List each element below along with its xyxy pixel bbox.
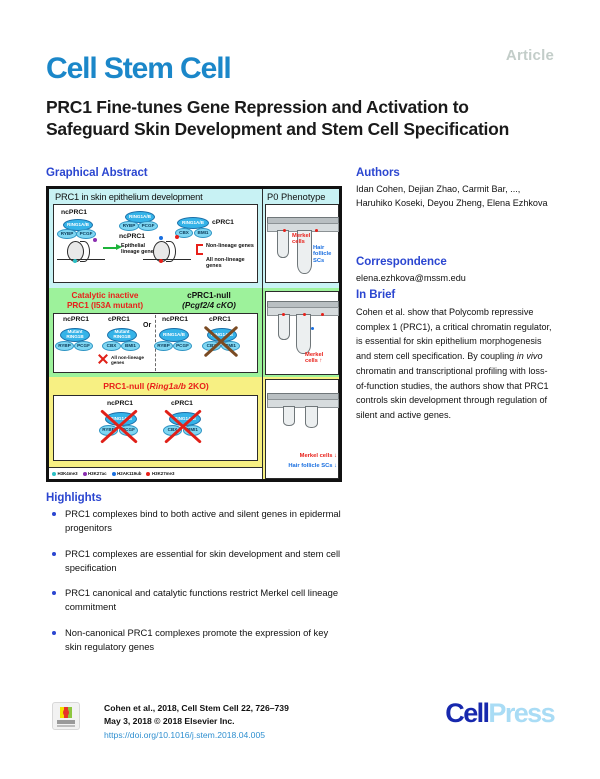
logo-press-text: Press xyxy=(488,698,554,728)
correspondence-email[interactable]: elena.ezhkova@mssm.edu xyxy=(356,272,552,286)
top-cprc1-label: cPRC1 xyxy=(212,219,234,226)
mid-head-left: Catalytic inactive PRC1 (I53A mutant) xyxy=(55,291,155,312)
h2ak119ub-mark xyxy=(159,236,163,240)
mid-ncprc1-label: ncPRC1 xyxy=(63,316,89,323)
hair-follicle-shape-4 xyxy=(296,314,311,354)
mutant-ring1b-blob: Mutant RING1B xyxy=(60,328,90,342)
legend-item: H3K4me3 xyxy=(52,471,78,476)
ncprc1-knockout-x-icon xyxy=(95,407,143,443)
merkel-cell-dot-2 xyxy=(315,229,318,232)
list-item: PRC1 complexes bind to both active and s… xyxy=(46,507,346,536)
figure-title-left: PRC1 in skin epithelium development xyxy=(55,192,203,202)
legend-item: H3K27ac xyxy=(83,471,107,476)
legend-dot-h3k4me3 xyxy=(52,472,56,476)
mutant-ring1b-blob-2: Mutant RING1B xyxy=(107,328,137,342)
figure-legend: H3K4me3 H3K27ac H2AK119ub H3K27me3 xyxy=(49,467,262,479)
correspondence-heading: Correspondence xyxy=(356,256,447,268)
mid-phenotype-label: Merkel cells ↑ xyxy=(305,352,337,365)
bottom-ncprc1-label: ncPRC1 xyxy=(107,400,133,407)
hair-follicle-shape-3 xyxy=(278,314,290,340)
citation-line-2: May 3, 2018 © 2018 Elsevier Inc. xyxy=(104,715,289,728)
legend-item: H2AK119ub xyxy=(112,471,142,476)
legend-label: H2AK119ub xyxy=(117,471,141,476)
top-ncprc1-label: ncPRC1 xyxy=(61,209,87,216)
legend-label: H3K27me3 xyxy=(152,471,174,476)
bottom-cprc1-label: cPRC1 xyxy=(171,400,193,407)
logo-cell-text: Cell xyxy=(445,698,488,728)
h3k27me3-mark-2 xyxy=(159,259,163,263)
rybp-blob: RYBP xyxy=(57,229,77,239)
panel-vertical-divider xyxy=(262,189,263,479)
doi-link[interactable]: https://doi.org/10.1016/j.stem.2018.04.0… xyxy=(104,729,289,742)
merkel-cells-label: Merkel cells xyxy=(292,233,316,246)
merkel-cell-dot-4 xyxy=(303,313,306,316)
graphical-abstract-heading: Graphical Abstract xyxy=(46,167,148,179)
rybp-blob-2: RYBP xyxy=(119,221,139,231)
figure-title-right: P0 Phenotype xyxy=(267,192,325,202)
mid-head-left-line2: PRC1 (I53A mutant) xyxy=(67,301,143,310)
cbx-blob-2: CBX xyxy=(102,341,121,351)
author-list: Idan Cohen, Dejian Zhao, Carmit Bar, ...… xyxy=(356,183,552,210)
citation-line-1: Cohen et al., 2018, Cell Stem Cell 22, 7… xyxy=(104,702,289,715)
bottom-panel-content-box xyxy=(53,395,258,461)
mid-cprc1-label-2: cPRC1 xyxy=(209,316,231,323)
legend-item: H3K27me3 xyxy=(146,471,174,476)
article-cover-page: Article Cell Stem Cell PRC1 Fine-tunes G… xyxy=(0,0,600,779)
merkel-cell-dot-5 xyxy=(321,313,324,316)
journal-masthead: Cell Stem Cell xyxy=(46,54,231,84)
bullet-icon xyxy=(52,591,56,595)
mid-cprc1-label: cPRC1 xyxy=(108,316,130,323)
highlights-heading: Highlights xyxy=(46,492,102,504)
bottom-hf-label: Hair follicle SCs ↓ xyxy=(279,463,337,469)
legend-label: H3K4me3 xyxy=(58,471,78,476)
crossmark-badge-icon xyxy=(52,702,80,730)
all-non-lineage-genes-label: All non-lineage genes xyxy=(206,257,254,269)
in-brief-heading: In Brief xyxy=(356,289,395,301)
inactive-mark-x-icon xyxy=(97,352,109,364)
citation-block: Cohen et al., 2018, Cell Stem Cell 22, 7… xyxy=(104,702,289,742)
crossmark-dot xyxy=(63,709,69,716)
in-brief-part2: chromatin and transcriptional profiling … xyxy=(356,366,549,420)
highlight-text: PRC1 complexes bind to both active and s… xyxy=(65,507,346,536)
epithelial-lineage-genes-label: Epithelial lineage genes xyxy=(121,243,157,255)
authors-heading: Authors xyxy=(356,167,400,179)
or-label: Or xyxy=(143,322,151,329)
hair-follicle-scs-label: Hair follicle SCs xyxy=(313,245,337,264)
legend-label: H3K27ac xyxy=(88,471,107,476)
pcgf-blob-4: PCGF xyxy=(173,341,192,351)
hf-sc-dot xyxy=(311,327,314,330)
legend-dot-h2ak119ub xyxy=(112,472,116,476)
rybp-blob-3: RYBP xyxy=(55,341,74,351)
article-type-label: Article xyxy=(506,47,554,64)
dna-strand xyxy=(57,259,105,260)
list-item: PRC1 canonical and catalytic functions r… xyxy=(46,586,346,615)
top-ncprc1-label-2: ncPRC1 xyxy=(119,233,145,240)
bottom-head-line1: PRC1-null ( xyxy=(103,381,149,391)
mid-head-right-line1: cPRC1-null xyxy=(187,291,231,300)
bullet-icon xyxy=(52,512,56,516)
list-item: PRC1 complexes are essential for skin de… xyxy=(46,547,346,576)
h3k27ac-mark xyxy=(93,238,97,242)
cell-press-logo: CellPress xyxy=(445,700,554,727)
bullet-icon xyxy=(52,631,56,635)
crossmark-bar xyxy=(57,720,75,724)
merkel-cell-dot xyxy=(283,229,286,232)
hair-follicle-shape xyxy=(277,230,289,258)
highlights-list: PRC1 complexes bind to both active and s… xyxy=(46,507,346,665)
cprc1-knockout-x-icon xyxy=(199,323,243,357)
crossmark-bar-2 xyxy=(57,725,75,727)
bottom-head: PRC1-null (Ring1a/b 2KO) xyxy=(55,381,257,392)
bullet-icon xyxy=(52,552,56,556)
pcgf-blob-2: PCGF xyxy=(138,221,158,231)
in-brief-italic: in vivo xyxy=(517,351,543,361)
mid-head-left-line1: Catalytic inactive xyxy=(72,291,139,300)
rybp-blob-4: RYBP xyxy=(154,341,173,351)
mid-head-right-line2: (Pcgf2/4 cKO) xyxy=(182,301,236,310)
bottom-merkel-label: Merkel cells ↓ xyxy=(285,453,337,459)
bmi1-blob-2: BMI1 xyxy=(121,341,140,351)
mid-annotation: All non-lineage genes xyxy=(111,355,157,366)
highlight-text: PRC1 canonical and catalytic functions r… xyxy=(65,586,346,615)
legend-dot-h3k27ac xyxy=(83,472,87,476)
cprc1-knockout-x-icon-2 xyxy=(159,407,207,443)
mid-head-right: cPRC1-null (Pcgf2/4 cKO) xyxy=(161,291,257,312)
pcgf-blob-3: PCGF xyxy=(74,341,93,351)
ring1ab-blob-4: RING1A/B xyxy=(159,328,189,342)
mid-ncprc1-label-2: ncPRC1 xyxy=(162,316,188,323)
graphical-abstract-figure: PRC1 in skin epithelium development P0 P… xyxy=(46,186,342,482)
hair-follicle-shape-5 xyxy=(283,406,295,426)
page-title: PRC1 Fine-tunes Gene Repression and Acti… xyxy=(46,96,546,141)
in-brief-text: Cohen et al. show that Polycomb repressi… xyxy=(356,305,552,423)
h3k27me3-mark xyxy=(175,235,179,239)
merkel-cell-dot-3 xyxy=(282,313,285,316)
repression-bar xyxy=(196,244,203,255)
non-lineage-genes-label: Non-lineage genes xyxy=(206,243,254,249)
legend-dot-h3k27me3 xyxy=(146,472,150,476)
h3k4me3-mark xyxy=(73,259,77,263)
bottom-head-line2: 2KO) xyxy=(186,381,209,391)
bottom-head-italic: Ring1a/b xyxy=(150,381,186,391)
list-item: Non-canonical PRC1 complexes promote the… xyxy=(46,626,346,655)
activation-arrow xyxy=(103,247,117,249)
dna-strand-2 xyxy=(143,259,191,260)
skin-epidermis-band-3 xyxy=(267,399,339,408)
highlight-text: Non-canonical PRC1 complexes promote the… xyxy=(65,626,346,655)
bmi1-blob: BMI1 xyxy=(194,228,212,238)
highlight-text: PRC1 complexes are essential for skin de… xyxy=(65,547,346,576)
hair-follicle-shape-6 xyxy=(305,406,318,428)
